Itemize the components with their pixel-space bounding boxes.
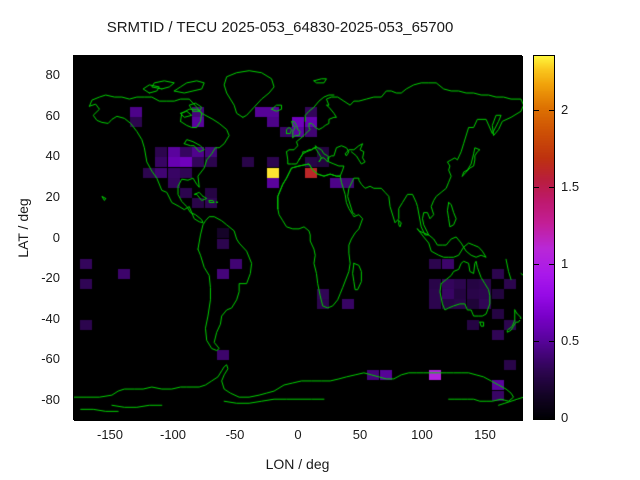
colorbar-tick-mark-right bbox=[549, 264, 554, 265]
y-tick-mark-right bbox=[516, 156, 522, 157]
x-axis-label: LON / deg bbox=[73, 456, 522, 472]
x-tick-mark-top bbox=[360, 55, 361, 61]
colorbar-tick-label: 0.5 bbox=[561, 334, 611, 347]
x-tick-mark bbox=[173, 414, 174, 420]
colorbar-tick-label: 1.5 bbox=[561, 180, 611, 193]
x-tick-mark bbox=[485, 414, 486, 420]
y-tick-mark bbox=[73, 238, 79, 239]
y-tick-mark-right bbox=[516, 359, 522, 360]
x-tick-mark-top bbox=[235, 55, 236, 61]
colorbar-tick-mark-left bbox=[534, 110, 539, 111]
y-tick-label: -40 bbox=[20, 312, 60, 325]
x-tick-mark bbox=[422, 414, 423, 420]
x-tick-mark-top bbox=[110, 55, 111, 61]
y-tick-label: -80 bbox=[20, 393, 60, 406]
colorbar-tick-mark-left bbox=[534, 341, 539, 342]
y-tick-mark-right bbox=[516, 116, 522, 117]
x-tick-label: -100 bbox=[143, 428, 203, 441]
colorbar-tick-mark-left bbox=[534, 187, 539, 188]
y-tick-mark bbox=[73, 75, 79, 76]
colorbar-tick-mark-right bbox=[549, 187, 554, 188]
colorbar-tick-mark-right bbox=[549, 418, 554, 419]
y-tick-mark-right bbox=[516, 400, 522, 401]
y-tick-mark bbox=[73, 278, 79, 279]
y-tick-mark-right bbox=[516, 238, 522, 239]
y-tick-mark bbox=[73, 400, 79, 401]
x-tick-label: -150 bbox=[80, 428, 140, 441]
y-tick-mark-right bbox=[516, 278, 522, 279]
x-tick-label: 0 bbox=[268, 428, 328, 441]
chart-root: SRMTID / TECU 2025-053_64830-2025-053_65… bbox=[0, 0, 640, 480]
colorbar-tick-label: 0 bbox=[561, 411, 611, 424]
x-tick-label: 50 bbox=[330, 428, 390, 441]
x-tick-mark bbox=[235, 414, 236, 420]
x-tick-mark bbox=[110, 414, 111, 420]
map-axes[interactable] bbox=[73, 55, 522, 420]
colorbar-tick-mark-left bbox=[534, 418, 539, 419]
y-tick-mark-right bbox=[516, 319, 522, 320]
colorbar-tick-mark-right bbox=[549, 341, 554, 342]
y-tick-mark-right bbox=[516, 75, 522, 76]
y-tick-label: 60 bbox=[20, 109, 60, 122]
y-tick-mark bbox=[73, 116, 79, 117]
chart-title: SRMTID / TECU 2025-053_64830-2025-053_65… bbox=[0, 19, 560, 36]
x-tick-label: 150 bbox=[455, 428, 515, 441]
y-tick-mark bbox=[73, 197, 79, 198]
x-tick-mark-top bbox=[173, 55, 174, 61]
x-tick-label: -50 bbox=[205, 428, 265, 441]
y-tick-label: -60 bbox=[20, 352, 60, 365]
x-tick-mark-top bbox=[485, 55, 486, 61]
y-tick-mark bbox=[73, 359, 79, 360]
x-tick-mark bbox=[298, 414, 299, 420]
x-tick-label: 100 bbox=[392, 428, 452, 441]
y-tick-label: 80 bbox=[20, 68, 60, 81]
x-tick-mark-top bbox=[422, 55, 423, 61]
colorbar-tick-label: 2 bbox=[561, 103, 611, 116]
y-tick-mark bbox=[73, 156, 79, 157]
colorbar-tick-mark-left bbox=[534, 264, 539, 265]
x-tick-mark bbox=[360, 414, 361, 420]
colorbar-tick-label: 1 bbox=[561, 257, 611, 270]
y-axis-label: LAT / deg bbox=[15, 153, 31, 303]
map-heatmap-canvas[interactable] bbox=[74, 56, 523, 421]
x-tick-mark-top bbox=[298, 55, 299, 61]
colorbar-tick-mark-right bbox=[549, 110, 554, 111]
y-tick-mark-right bbox=[516, 197, 522, 198]
y-tick-mark bbox=[73, 319, 79, 320]
